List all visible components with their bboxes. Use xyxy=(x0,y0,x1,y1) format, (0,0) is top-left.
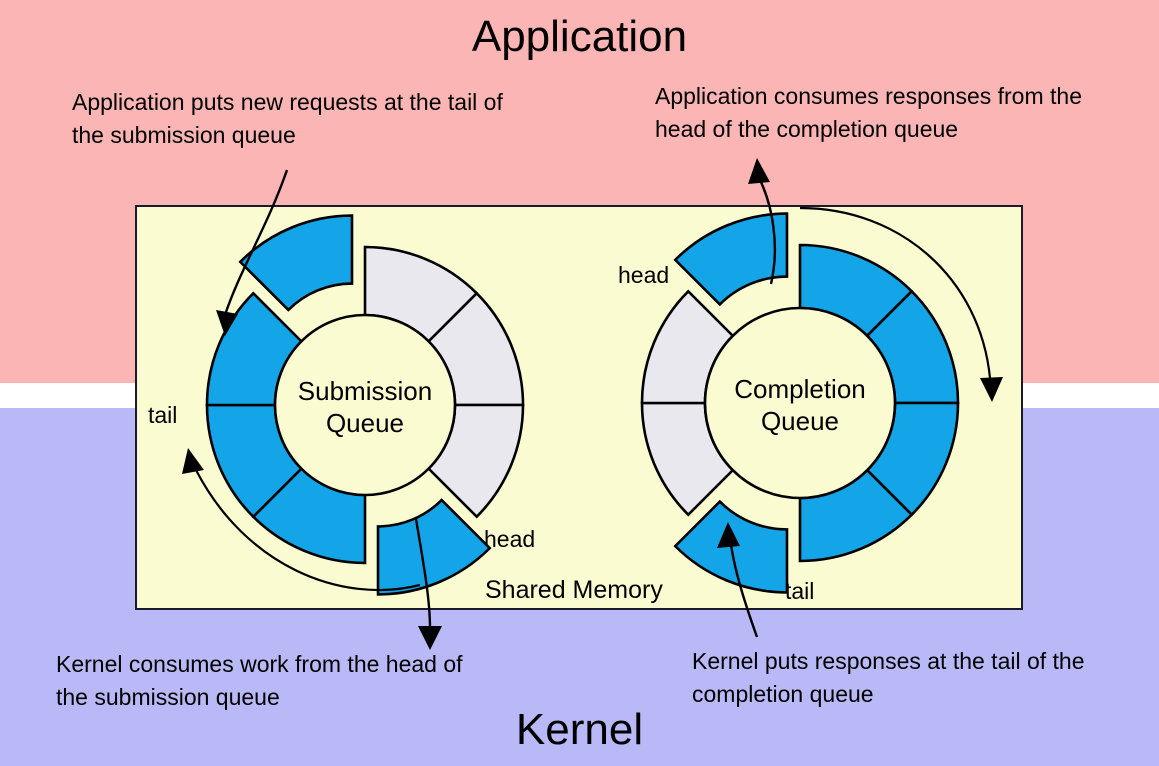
completion-queue-slice-7-head-filled xyxy=(675,214,787,305)
completion-queue-name-line2: Queue xyxy=(761,406,839,436)
arrowhead-sq-head-to-kernel xyxy=(418,626,442,650)
arrowhead-sq-rotation xyxy=(182,448,204,474)
submission-queue-name-line2: Queue xyxy=(326,408,404,438)
submission-queue-name-line1: Submission xyxy=(298,376,432,406)
completion-queue-name-line1: Completion xyxy=(734,374,866,404)
arrowhead-cq-head-to-app xyxy=(748,158,770,184)
arrowhead-cq-rotation xyxy=(980,377,1003,402)
ring-diagram: Submission Queue Completion Queue xyxy=(0,0,1159,766)
